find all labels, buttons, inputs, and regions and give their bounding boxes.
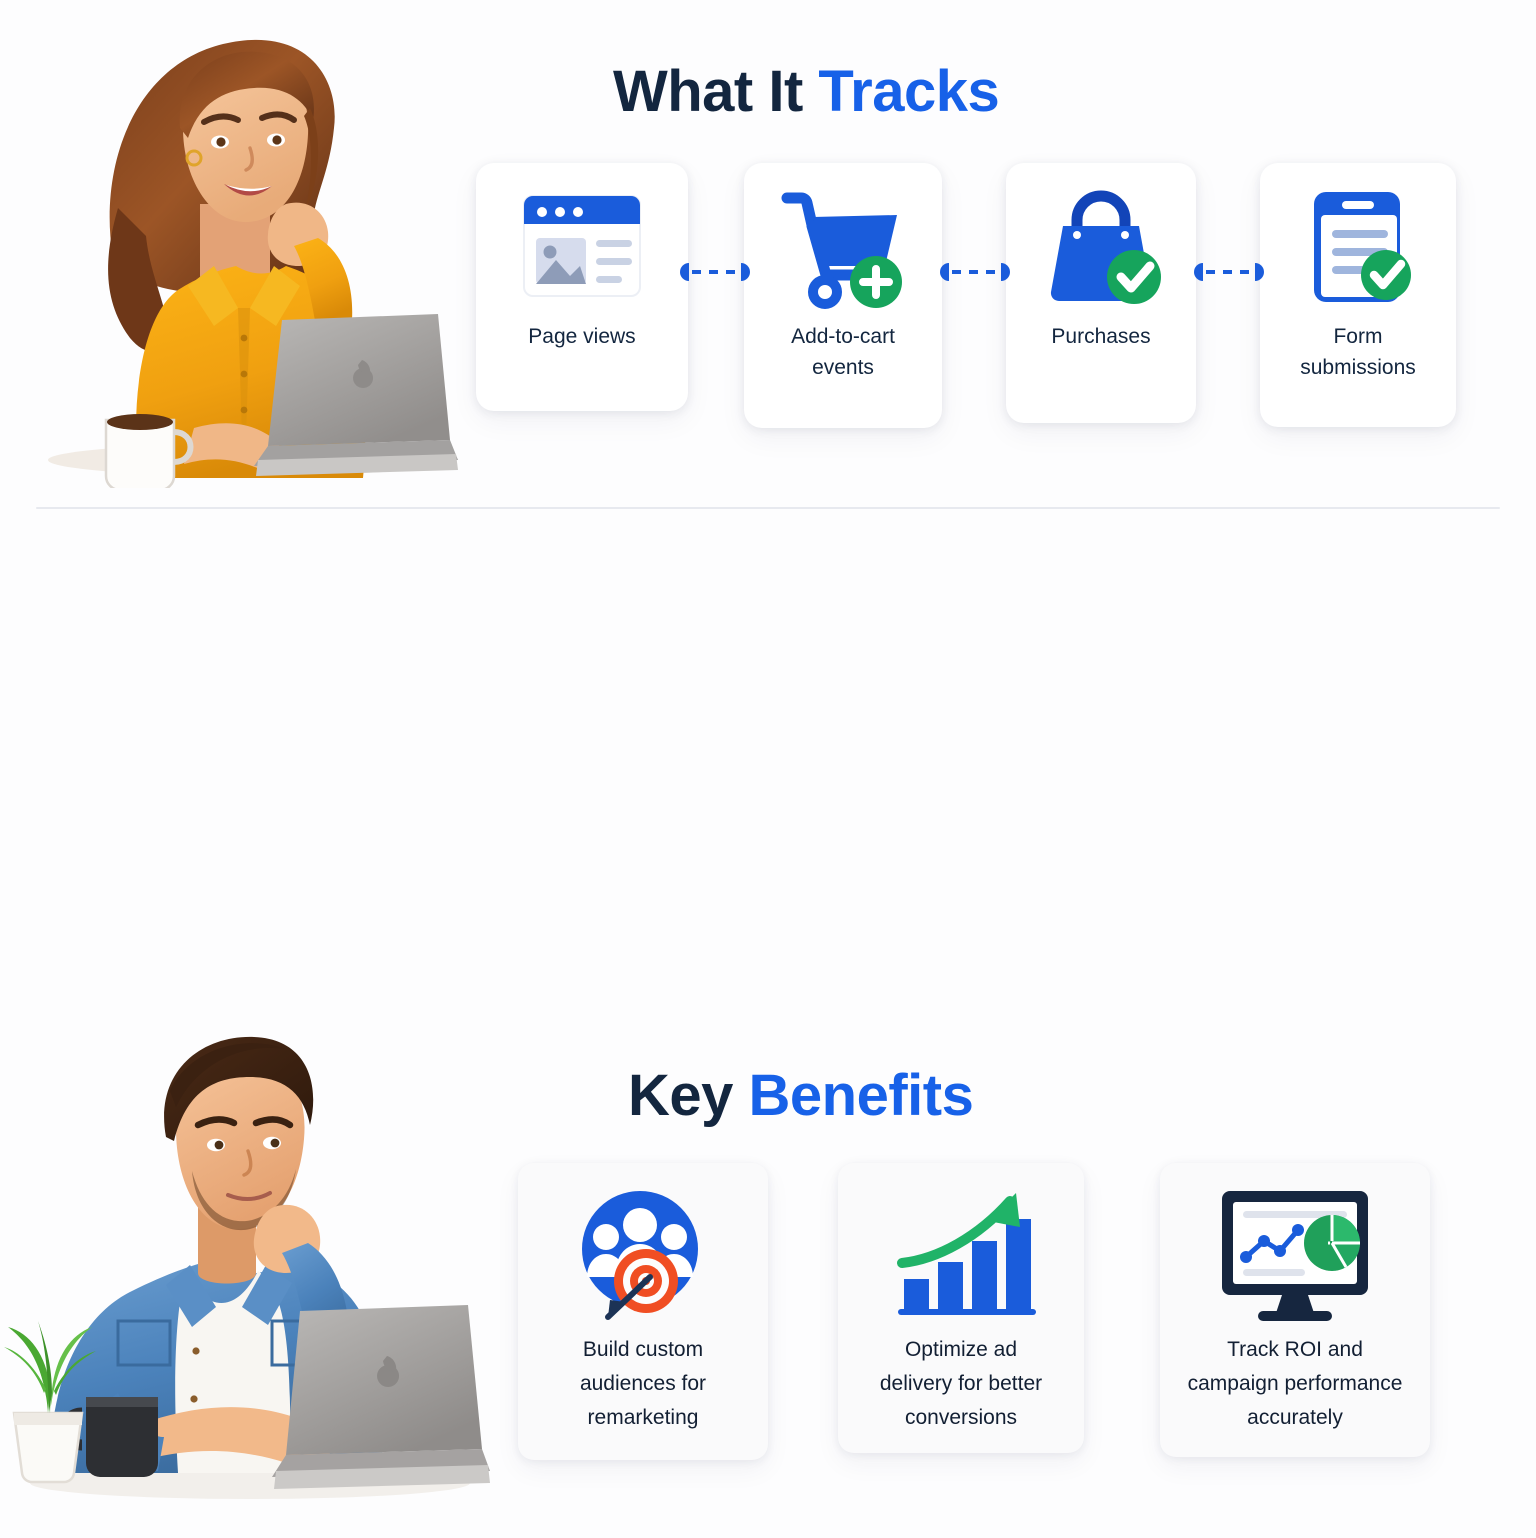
benefit-card-label-line2: delivery for better	[880, 1367, 1042, 1401]
page-title-benefits: Key Benefits	[628, 1062, 973, 1129]
woman-at-laptop-illustration	[18, 8, 468, 488]
section-what-it-tracks: What It Tracks	[0, 0, 1536, 508]
track-card-add-to-cart[interactable]: Add-to-cart events	[744, 163, 942, 428]
benefit-card-label-line1: Track ROI and	[1188, 1333, 1403, 1367]
benefit-card-optimize-delivery[interactable]: Optimize ad delivery for better conversi…	[838, 1163, 1084, 1453]
benefit-card-label-line3: remarketing	[580, 1401, 706, 1435]
benefits-card-row: Build custom audiences for remarketing	[518, 1163, 1458, 1463]
track-card-label: Add-to-cart events	[781, 321, 905, 383]
track-card-label-line1: Form	[1300, 321, 1416, 352]
page-title-tracks-part1: What It	[613, 59, 818, 124]
shopping-cart-plus-icon	[773, 177, 913, 317]
shopping-bag-check-icon	[1031, 177, 1171, 317]
benefit-card-label: Build custom audiences for remarketing	[574, 1333, 712, 1435]
track-card-purchases[interactable]: Purchases	[1006, 163, 1196, 423]
growth-bar-chart-icon	[886, 1181, 1036, 1331]
infographic-page: What It Tracks	[0, 0, 1536, 1024]
track-card-label: Page views	[518, 321, 645, 352]
benefit-card-label-line3: conversions	[880, 1401, 1042, 1435]
man-at-laptop-illustration	[0, 1021, 490, 1533]
benefit-card-label-line2: campaign performance	[1188, 1367, 1403, 1401]
audience-target-icon	[568, 1181, 718, 1331]
benefit-card-build-audiences[interactable]: Build custom audiences for remarketing	[518, 1163, 768, 1460]
track-card-label: Purchases	[1041, 321, 1160, 352]
page-title-tracks: What It Tracks	[613, 58, 999, 125]
benefit-card-label-line1: Build custom	[580, 1333, 706, 1367]
dashed-arrow-connector	[940, 263, 1010, 281]
track-card-form-submissions[interactable]: Form submissions	[1260, 163, 1456, 427]
benefit-card-track-roi[interactable]: Track ROI and campaign performance accur…	[1160, 1163, 1430, 1457]
track-card-label-line1: Add-to-cart	[791, 321, 895, 352]
benefit-card-label-line1: Optimize ad	[880, 1333, 1042, 1367]
dashed-arrow-connector	[680, 263, 750, 281]
page-title-benefits-part2: Benefits	[749, 1063, 974, 1128]
page-title-benefits-part1: Key	[628, 1063, 749, 1128]
tracks-card-row: Page views Add-to-cart events	[476, 163, 1456, 436]
browser-window-icon	[512, 177, 652, 317]
track-card-label-line2: events	[791, 352, 895, 383]
benefit-card-label: Optimize ad delivery for better conversi…	[874, 1333, 1048, 1435]
dashed-arrow-connector	[1194, 263, 1264, 281]
benefit-card-label: Track ROI and campaign performance accur…	[1182, 1333, 1409, 1435]
track-card-label: Form submissions	[1290, 321, 1426, 383]
page-title-tracks-part2: Tracks	[818, 59, 999, 124]
benefit-card-label-line2: audiences for	[580, 1367, 706, 1401]
section-key-benefits: Key Benefits	[0, 509, 1536, 1024]
track-card-label-line2: submissions	[1300, 352, 1416, 383]
form-document-check-icon	[1288, 177, 1428, 317]
benefit-card-label-line3: accurately	[1188, 1401, 1403, 1435]
analytics-monitor-icon	[1210, 1181, 1380, 1331]
track-card-page-views[interactable]: Page views	[476, 163, 688, 411]
